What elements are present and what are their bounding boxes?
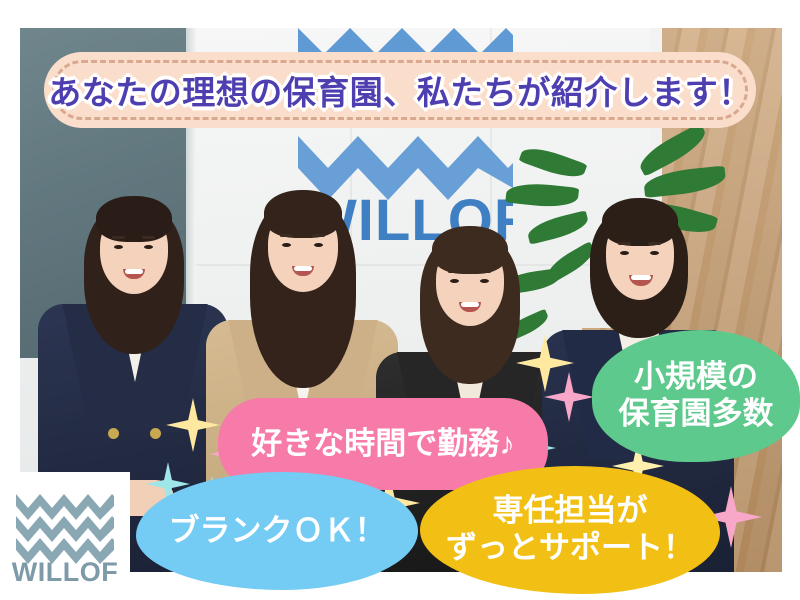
headline-text: あなたの理想の保育園、私たちが紹介します！	[44, 66, 756, 114]
bubble-blue-line1: ブランクＯＫ！	[169, 513, 386, 550]
advertisement-banner: WILLOF	[0, 0, 800, 600]
bubble-green-line1: 小規模の	[619, 359, 774, 396]
willof-wordmark: WILLOF	[0, 557, 130, 588]
bubble-small-nursery: 小規模の 保育園多数	[592, 330, 800, 462]
bubble-pink-line1: 好きな時間で勤務♪	[251, 426, 515, 463]
willof-zigzag-icon	[16, 488, 114, 564]
bubble-yellow-line1: 専任担当が	[446, 493, 694, 530]
bubble-dedicated-support: 専任担当が ずっとサポート！	[420, 466, 720, 594]
headline-banner: あなたの理想の保育園、私たちが紹介します！	[44, 52, 756, 128]
willof-logo-box: WILLOF	[0, 472, 130, 600]
bubble-blank-ok: ブランクＯＫ！	[136, 472, 418, 590]
bubble-yellow-line2: ずっとサポート！	[446, 530, 694, 567]
bubble-green-line2: 保育園多数	[619, 396, 774, 433]
